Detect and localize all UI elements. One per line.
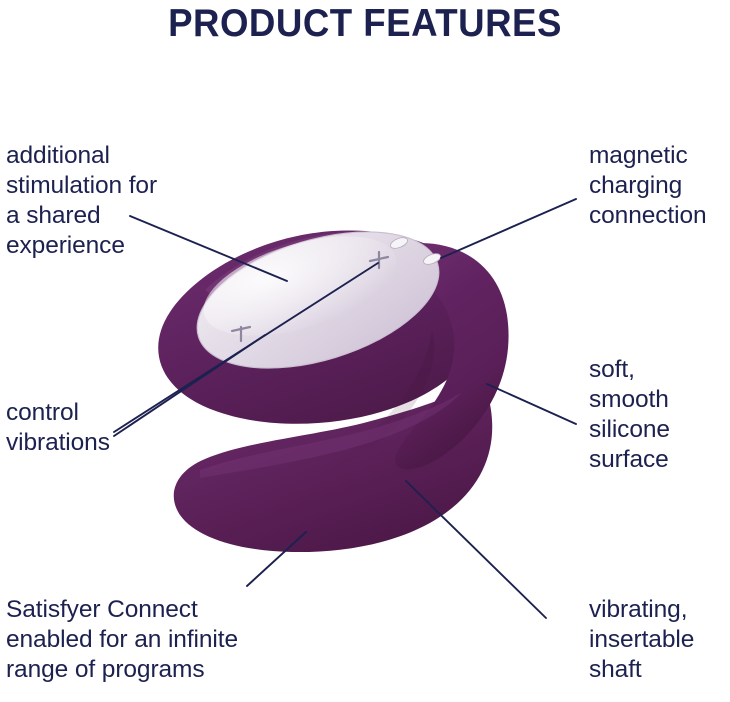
leader-soft-silicone bbox=[487, 384, 576, 424]
callout-additional-stimulation: additional stimulation for a shared expe… bbox=[6, 141, 236, 261]
callout-soft-silicone: soft, smooth silicone surface bbox=[589, 355, 730, 475]
leader-magnetic-charging bbox=[441, 199, 576, 258]
callout-satisfyer-connect: Satisfyer Connect enabled for an infinit… bbox=[6, 595, 286, 685]
callout-control-vibrations: control vibrations bbox=[6, 398, 216, 458]
callout-vibrating-shaft: vibrating, insertable shaft bbox=[589, 595, 730, 685]
callout-magnetic-charging: magnetic charging connection bbox=[589, 141, 730, 231]
leader-vibrating-shaft bbox=[406, 481, 546, 618]
product-features-infographic: PRODUCT FEATURES bbox=[0, 0, 730, 702]
